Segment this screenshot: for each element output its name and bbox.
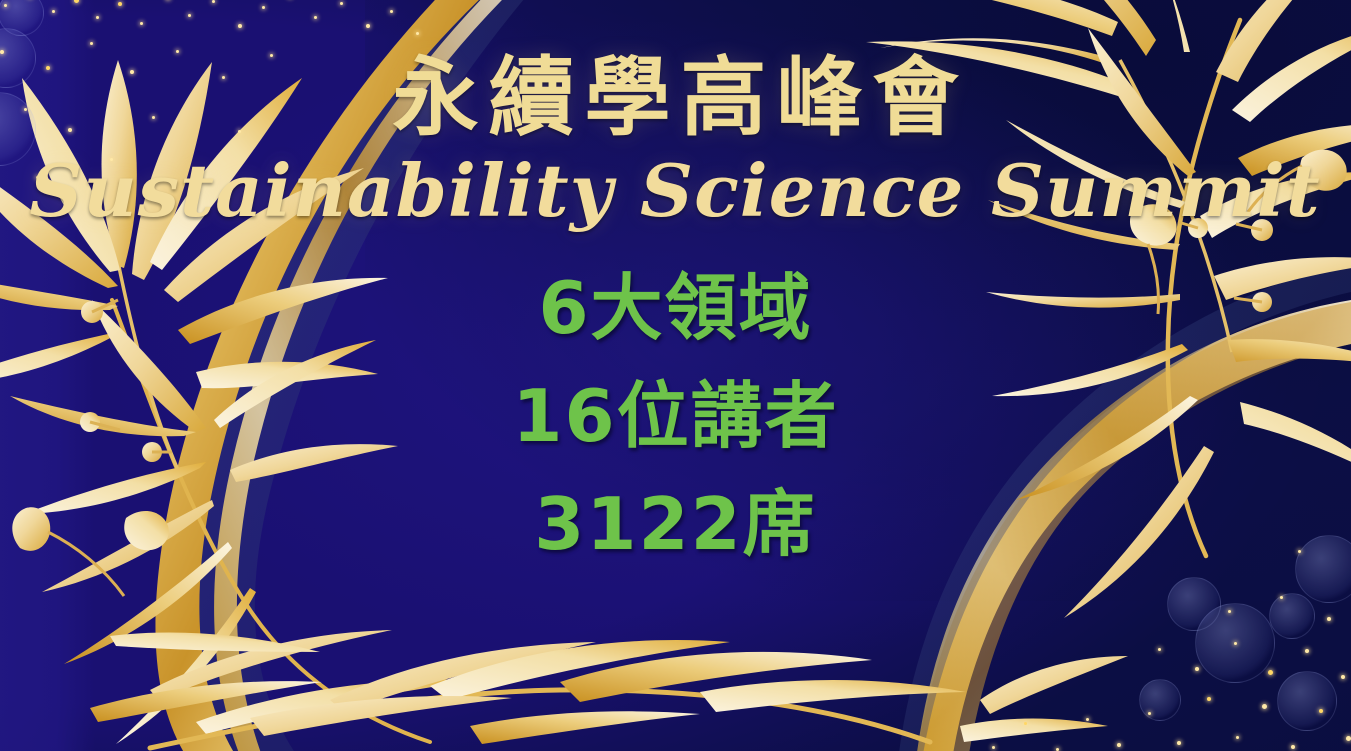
stat-domains: 6大領域 [538, 272, 812, 344]
poster-content: 永續學高峰會 Sustainability Science Summit 6大領… [0, 0, 1351, 751]
stat-seats: 3122席 [534, 488, 816, 560]
poster-title-chinese: 永續學高峰會 [383, 52, 969, 145]
event-poster: 永續學高峰會 Sustainability Science Summit 6大領… [0, 0, 1351, 751]
stat-speakers: 16位講者 [512, 380, 838, 452]
poster-stats-list: 6大領域 16位講者 3122席 [512, 272, 838, 560]
poster-title-english: Sustainability Science Summit [30, 153, 1321, 229]
